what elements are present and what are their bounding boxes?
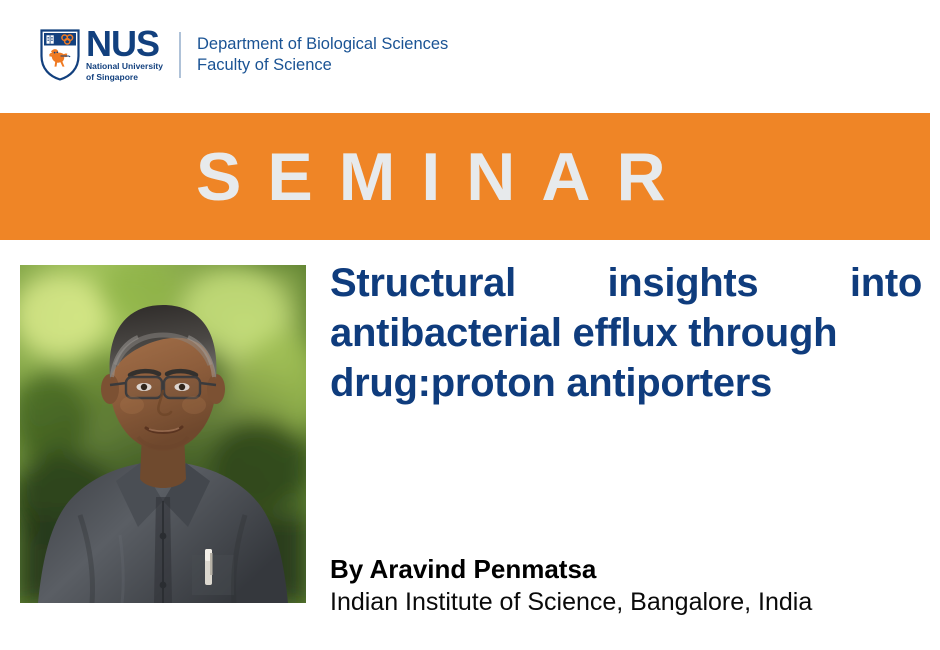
- poster-header: NUS National University of Singapore Dep…: [0, 0, 940, 113]
- speaker-portrait-photo: [20, 265, 306, 603]
- title-word-3: into: [850, 258, 922, 308]
- speaker-affiliation: Indian Institute of Science, Bangalore, …: [330, 586, 930, 618]
- title-line-2: antibacterial efflux through: [330, 308, 930, 358]
- seminar-poster: NUS National University of Singapore Dep…: [0, 0, 940, 650]
- title-word-2: insights: [607, 258, 758, 308]
- speaker-photo: [20, 265, 306, 603]
- seminar-title: Structural insights into antibacterial e…: [330, 258, 930, 408]
- speaker-name: By Aravind Penmatsa: [330, 553, 930, 585]
- nus-letters: NUS: [86, 27, 163, 60]
- speaker-info: By Aravind Penmatsa Indian Institute of …: [330, 553, 930, 618]
- title-line-1: Structural insights into: [330, 258, 922, 308]
- title-line-3: drug:proton antiporters: [330, 358, 930, 408]
- nus-wordmark: NUS National University of Singapore: [86, 27, 163, 82]
- title-word-1: Structural: [330, 258, 516, 308]
- nus-crest-icon: [40, 29, 80, 81]
- nus-logo-lockup: NUS National University of Singapore Dep…: [40, 27, 448, 82]
- department-name: Department of Biological Sciences: [197, 34, 448, 55]
- faculty-name: Faculty of Science: [197, 55, 448, 76]
- logo-divider: [179, 32, 181, 78]
- department-block: Department of Biological Sciences Facult…: [197, 34, 448, 76]
- nus-subtext-line1: National University: [86, 61, 163, 71]
- seminar-banner-label: SEMINAR: [196, 143, 692, 211]
- nus-subtext-line2: of Singapore: [86, 72, 163, 82]
- seminar-banner: SEMINAR: [0, 113, 930, 240]
